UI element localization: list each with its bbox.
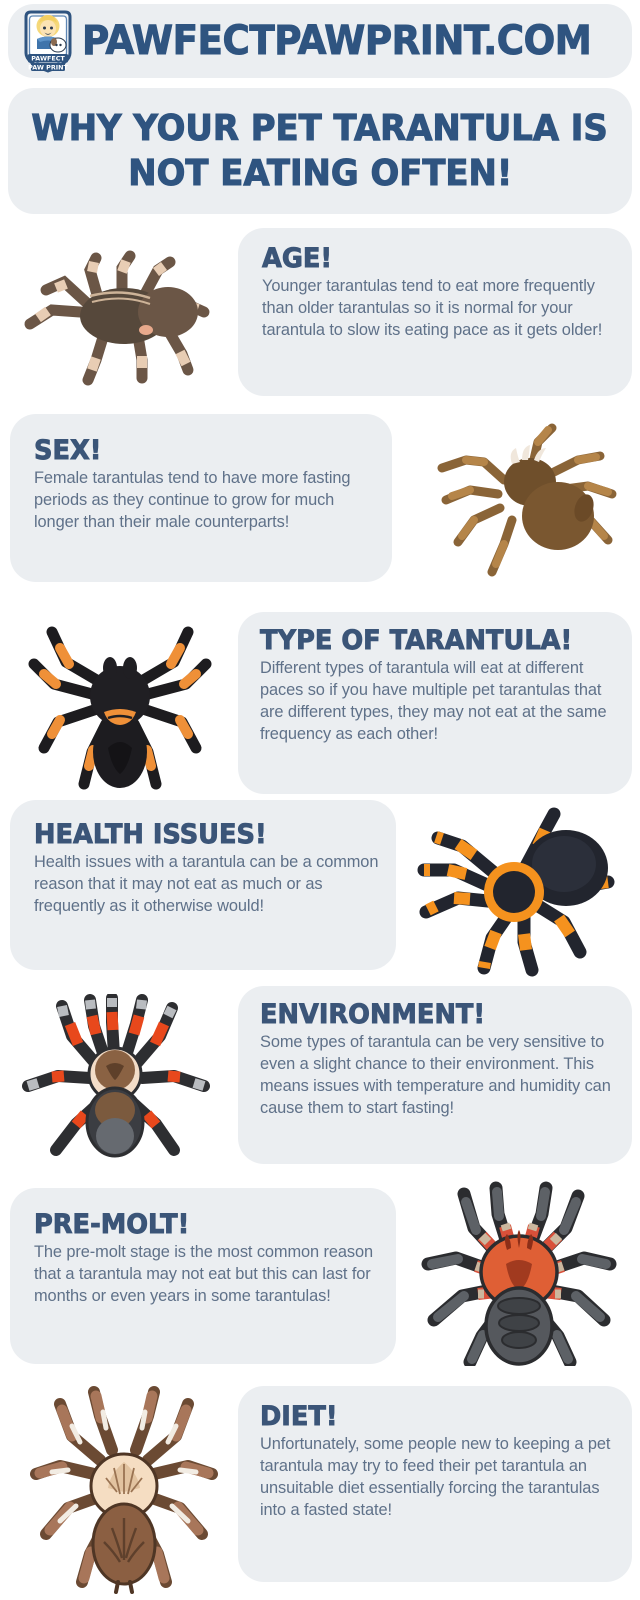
environment-heading: ENVIRONMENT! bbox=[260, 1000, 598, 1030]
section-environment: ENVIRONMENT! Some types of tarantula can… bbox=[0, 986, 640, 1172]
sex-card: SEX! Female tarantulas tend to have more… bbox=[10, 414, 392, 582]
type-of-tarantula-card: TYPE OF TARANTULA! Different types of ta… bbox=[238, 612, 632, 794]
orange-carapace-gray-legged-tarantula-icon bbox=[412, 1180, 628, 1371]
section-sex: SEX! Female tarantulas tend to have more… bbox=[0, 414, 640, 594]
age-body: Younger tarantulas tend to eat more freq… bbox=[262, 276, 612, 341]
pawfect-paw-print-badge-icon: PAWFECT PAW PRINT bbox=[18, 9, 78, 73]
header-bar: PAWFECT PAW PRINT PAWFECTPAWPRINT.COM bbox=[8, 4, 632, 78]
section-type-of-tarantula: TYPE OF TARANTULA! Different types of ta… bbox=[0, 606, 640, 801]
brown-striped-tarantula-side-view-icon bbox=[18, 242, 223, 397]
health-issues-body: Health issues with a tarantula can be a … bbox=[34, 852, 382, 917]
page-title-line-2: NOT EATING OFTEN! bbox=[128, 151, 512, 196]
gray-red-kneed-tarantula-icon bbox=[14, 994, 220, 1167]
diet-body: Unfortunately, some people new to keepin… bbox=[260, 1434, 616, 1521]
type-of-tarantula-body: Different types of tarantula will eat at… bbox=[260, 658, 618, 745]
sex-body: Female tarantulas tend to have more fast… bbox=[34, 468, 374, 533]
environment-body: Some types of tarantula can be very sens… bbox=[260, 1032, 616, 1119]
section-diet: DIET! Unfortunately, some people new to … bbox=[0, 1372, 640, 1600]
tan-brown-tarantula-icon bbox=[24, 1378, 224, 1599]
page-title-line-1: WHY YOUR PET TARANTULA IS bbox=[32, 106, 608, 151]
diet-heading: DIET! bbox=[260, 1402, 598, 1432]
type-of-tarantula-heading: TYPE OF TARANTULA! bbox=[260, 626, 600, 656]
age-card: AGE! Younger tarantulas tend to eat more… bbox=[238, 228, 632, 396]
health-issues-card: HEALTH ISSUES! Health issues with a tara… bbox=[10, 800, 396, 970]
section-age: AGE! Younger tarantulas tend to eat more… bbox=[0, 228, 640, 406]
page-title: WHY YOUR PET TARANTULA IS NOT EATING OFT… bbox=[8, 88, 632, 214]
pre-molt-heading: PRE-MOLT! bbox=[34, 1210, 365, 1240]
logo-text-bottom: PAW PRINT bbox=[28, 63, 68, 71]
age-heading: AGE! bbox=[262, 244, 595, 274]
logo-text-top: PAWFECT bbox=[31, 55, 65, 63]
infographic-page: PAWFECT PAW PRINT PAWFECTPAWPRINT.COM WH… bbox=[0, 0, 640, 1600]
section-pre-molt: PRE-MOLT! The pre-molt stage is the most… bbox=[0, 1180, 640, 1370]
section-health-issues: HEALTH ISSUES! Health issues with a tara… bbox=[0, 800, 640, 978]
environment-card: ENVIRONMENT! Some types of tarantula can… bbox=[238, 986, 632, 1164]
black-orange-kneed-tarantula-icon bbox=[22, 606, 222, 801]
sex-heading: SEX! bbox=[34, 436, 357, 466]
diet-card: DIET! Unfortunately, some people new to … bbox=[238, 1386, 632, 1582]
pre-molt-body: The pre-molt stage is the most common re… bbox=[34, 1242, 382, 1307]
site-title: PAWFECTPAWPRINT.COM bbox=[82, 21, 591, 61]
health-issues-heading: HEALTH ISSUES! bbox=[34, 820, 365, 850]
orange-banded-black-tarantula-icon bbox=[414, 802, 630, 983]
pre-molt-card: PRE-MOLT! The pre-molt stage is the most… bbox=[10, 1188, 396, 1364]
brown-fuzzy-tarantula-icon bbox=[412, 416, 630, 591]
